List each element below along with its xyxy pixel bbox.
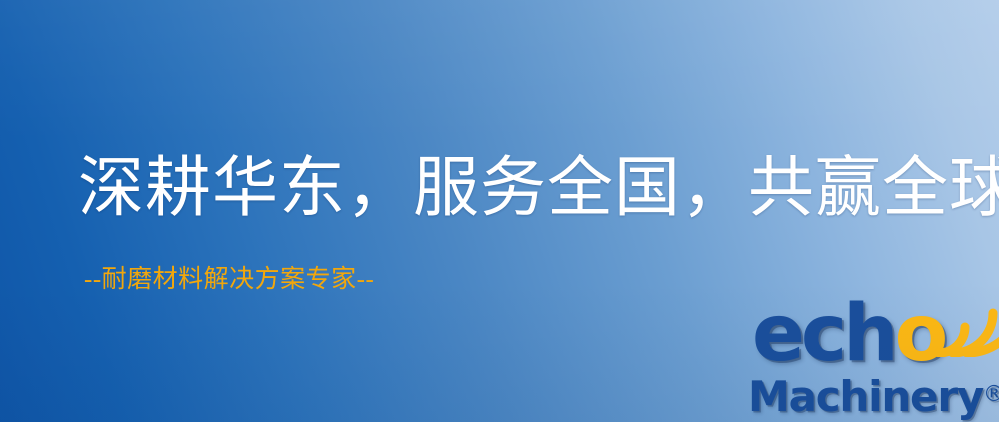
banner-subtitle: --耐磨材料解决方案专家--	[84, 263, 374, 297]
logo-echo-text: echo	[752, 292, 944, 376]
signal-waves-icon	[925, 293, 999, 357]
logo-wordmark: Machinery®	[748, 372, 999, 420]
registered-trademark-icon: ®	[983, 382, 999, 407]
promo-banner: 深耕华东，服务全国，共赢全球 --耐磨材料解决方案专家-- echo Machi…	[0, 0, 999, 422]
logo-echo-prefix: ech	[752, 289, 895, 379]
logo-wordmark-text: Machinery	[748, 372, 983, 421]
company-logo[interactable]: echo Machinery®	[744, 296, 999, 422]
logo-mark: echo	[744, 296, 999, 380]
banner-headline: 深耕华东，服务全国，共赢全球	[78, 148, 999, 230]
